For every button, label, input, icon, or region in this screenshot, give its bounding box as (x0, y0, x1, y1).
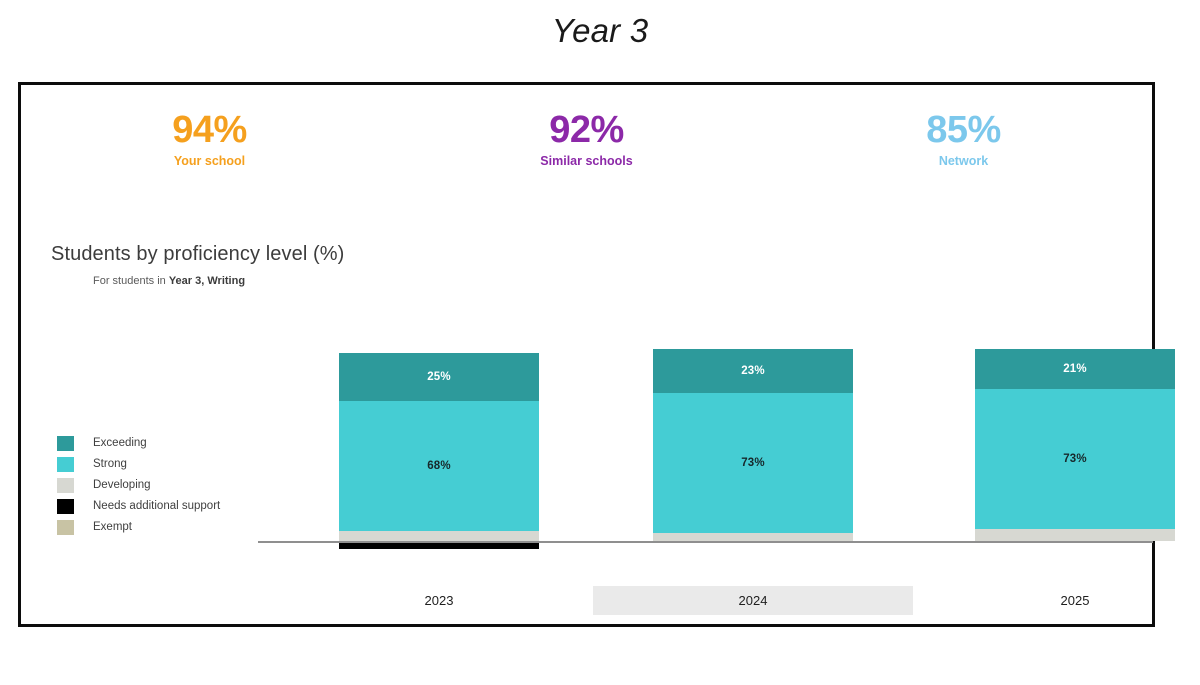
x-axis-label-2023[interactable]: 2023 (279, 586, 599, 615)
bar-segment[interactable]: 21% (975, 349, 1175, 389)
bar-stack[interactable]: 21%73% (975, 349, 1175, 541)
chart-legend: ExceedingStrongDevelopingNeeds additiona… (57, 435, 277, 540)
legend-swatch-icon (57, 436, 74, 451)
bar-segment-label: 21% (975, 363, 1175, 375)
bar-stack[interactable]: 23%73% (653, 349, 853, 541)
legend-item[interactable]: Exempt (57, 519, 277, 535)
legend-item-label: Strong (93, 458, 127, 470)
legend-item[interactable]: Needs additional support (57, 498, 277, 514)
bar-group-2024[interactable]: 23%73%2024 (653, 85, 853, 630)
bar-group-2023[interactable]: 25%68%2023 (339, 85, 539, 630)
legend-swatch-icon (57, 457, 74, 472)
legend-swatch-icon (57, 520, 74, 535)
bar-segment[interactable]: 73% (975, 389, 1175, 529)
page-title: Year 3 (0, 12, 1200, 50)
x-axis-label-text: 2023 (279, 586, 599, 615)
legend-swatch-icon (57, 499, 74, 514)
bar-stack[interactable]: 25%68% (339, 353, 539, 541)
bar-segment-label: 68% (339, 460, 539, 472)
bar-segment[interactable]: 23% (653, 349, 853, 393)
legend-item-label: Exceeding (93, 437, 147, 449)
x-axis-label-text: 2024 (593, 586, 913, 615)
bar-group-2025[interactable]: 21%73%2025 (975, 85, 1175, 630)
legend-item[interactable]: Exceeding (57, 435, 277, 451)
legend-item-label: Needs additional support (93, 500, 220, 512)
legend-swatch-icon (57, 478, 74, 493)
x-axis-label-2024[interactable]: 2024 (593, 586, 913, 615)
bar-below-baseline[interactable] (339, 543, 539, 549)
bar-segment[interactable]: 25% (339, 353, 539, 401)
bar-segment-label: 25% (339, 371, 539, 383)
x-axis-label-2025[interactable]: 2025 (915, 586, 1200, 615)
bar-segment[interactable] (339, 543, 539, 549)
bar-segment[interactable]: 68% (339, 401, 539, 532)
bar-segment[interactable] (653, 533, 853, 541)
report-card: 94% Your school 92% Similar schools 85% … (18, 82, 1155, 627)
legend-item-label: Developing (93, 479, 151, 491)
bar-segment-label: 23% (653, 365, 853, 377)
chart-subtitle-prefix: For students in (93, 275, 169, 287)
bar-segment[interactable] (339, 531, 539, 541)
legend-item-label: Exempt (93, 521, 132, 533)
plot-area: 25%68%202323%73%202421%73%2025 (258, 85, 1155, 630)
x-axis-label-text: 2025 (915, 586, 1200, 615)
chart-subtitle-strong: Year 3, Writing (169, 275, 245, 287)
bar-segment-label: 73% (653, 457, 853, 469)
legend-item[interactable]: Developing (57, 477, 277, 493)
legend-item[interactable]: Strong (57, 456, 277, 472)
bar-segment-label: 73% (975, 453, 1175, 465)
bar-segment[interactable] (975, 529, 1175, 541)
bar-segment[interactable]: 73% (653, 393, 853, 533)
